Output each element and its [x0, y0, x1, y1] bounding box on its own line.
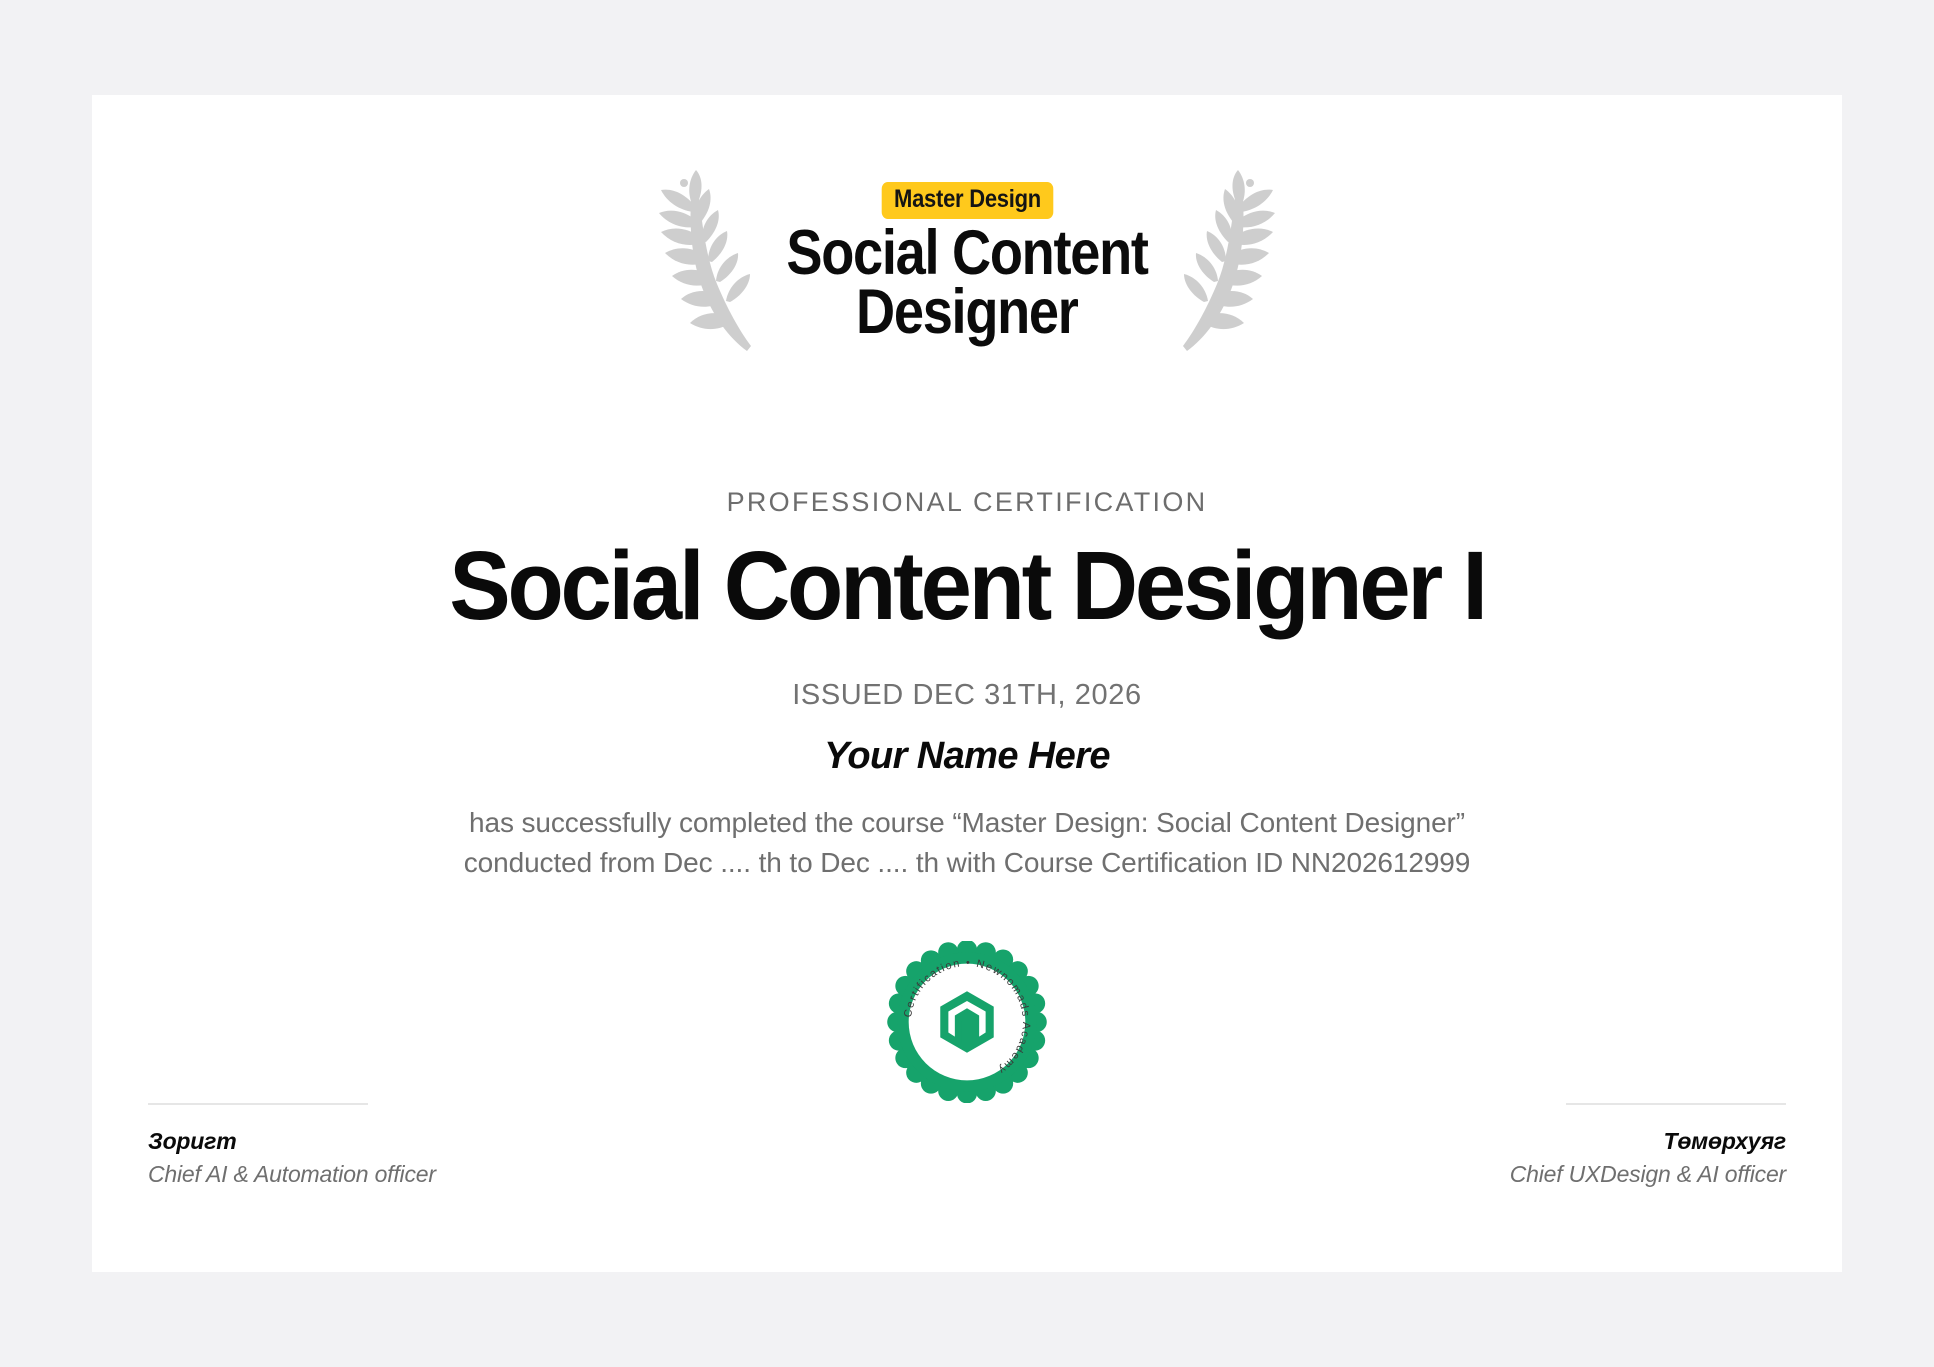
signature-block-right: Төмөрхуяг Chief UXDesign & AI officer	[1456, 1103, 1786, 1190]
certificate-title: Social Content Designer I	[136, 535, 1799, 637]
master-design-badge: Master Design	[881, 182, 1053, 219]
signature-block-left: Зоригт Chief AI & Automation officer	[148, 1103, 478, 1190]
certificate-card: Master Design Social Content Designer	[92, 95, 1842, 1272]
body-line-2: conducted from Dec .... th to Dec .... t…	[92, 843, 1842, 883]
recipient-name: Your Name Here	[92, 735, 1842, 778]
verified-seal-icon: Verified Certification • Newnomads Acade…	[886, 941, 1048, 1103]
logo-text-block: Master Design Social Content Designer	[767, 182, 1167, 342]
signature-role-left: Chief AI & Automation officer	[148, 1159, 478, 1190]
eyebrow-label: PROFESSIONAL CERTIFICATION	[92, 487, 1842, 518]
laurel-branch-right-icon	[1173, 170, 1283, 355]
verification-seal: Verified Certification • Newnomads Acade…	[886, 941, 1048, 1103]
issued-date: ISSUED DEC 31TH, 2026	[92, 679, 1842, 712]
certificate-body-copy: has successfully completed the course “M…	[92, 803, 1842, 883]
signature-rule-right	[1566, 1103, 1786, 1105]
certificate-page: Master Design Social Content Designer	[0, 0, 1934, 1367]
laurel-branch-left-icon	[651, 170, 761, 355]
logo-title-line-2: Designer	[856, 282, 1078, 342]
signature-name-right: Төмөрхуяг	[1456, 1127, 1786, 1156]
logo-title-line-1: Social Content	[786, 223, 1147, 283]
body-line-1: has successfully completed the course “M…	[92, 803, 1842, 843]
signature-name-left: Зоригт	[148, 1127, 478, 1156]
signature-role-right: Chief UXDesign & AI officer	[1456, 1159, 1786, 1190]
course-logo-lockup: Master Design Social Content Designer	[92, 167, 1842, 357]
signature-rule-left	[148, 1103, 368, 1105]
